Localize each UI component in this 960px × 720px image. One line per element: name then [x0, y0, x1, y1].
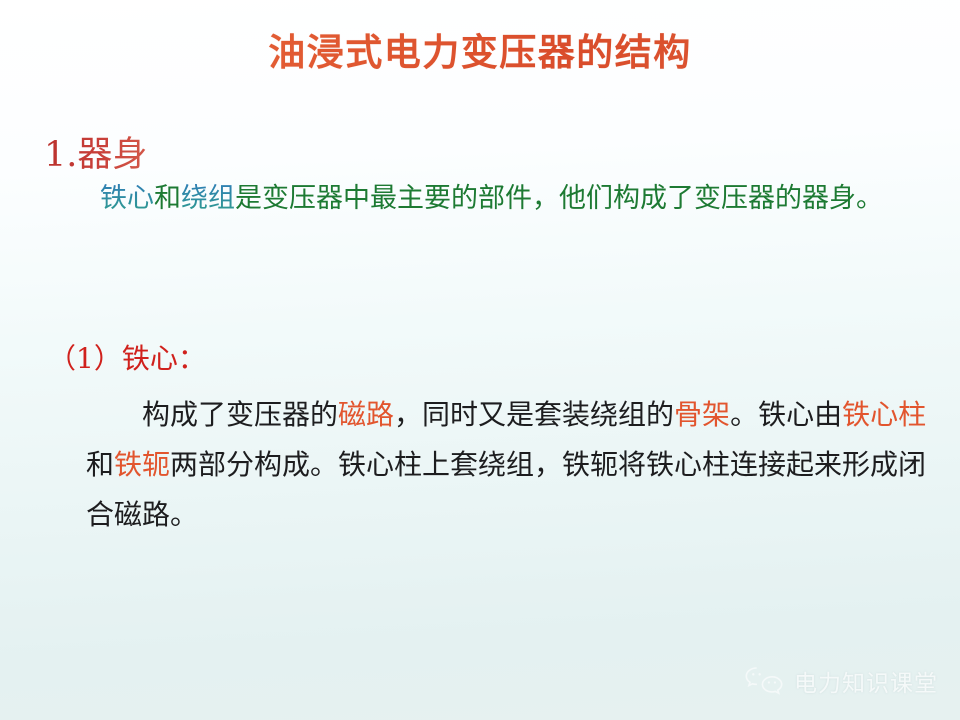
paragraph-core: 构成了变压器的磁路，同时又是套装绕组的骨架。铁心由铁心柱和铁轭两部分构成。铁心柱… — [86, 390, 942, 540]
run-dark-5: 两部分构成。铁心柱上套绕组，铁轭将铁心柱连接起来形成闭合磁路。 — [86, 448, 926, 531]
watermark-label: 电力知识课堂 — [794, 664, 938, 698]
section-heading-label: 器身 — [77, 135, 147, 175]
term-core-limb: 铁心柱 — [842, 398, 926, 431]
section-number: 1. — [44, 135, 77, 175]
paragraph-body-rest: 是变压器中最主要的部件，他们构成了变压器的器身。 — [235, 183, 883, 214]
term-core-yoke: 铁轭 — [114, 448, 170, 481]
subsection-heading: （1）铁心： — [48, 337, 206, 377]
watermark: 电力知识课堂 — [743, 664, 938, 698]
term-skeleton: 骨架 — [674, 398, 730, 431]
run-dark-1: 构成了变压器的 — [142, 398, 338, 431]
section-heading: 1.器身 — [44, 126, 147, 177]
term-magnetic-circuit: 磁路 — [338, 398, 394, 431]
run-dark-2: ，同时又是套装绕组的 — [394, 398, 674, 431]
page-title: 油浸式电力变压器的结构 — [0, 22, 960, 76]
paragraph-body: 铁心和绕组是变压器中最主要的部件，他们构成了变压器的器身。 — [48, 176, 928, 222]
run-dark-3: 。铁心由 — [730, 398, 842, 431]
run-dark-4: 和 — [86, 448, 114, 481]
conjunction-and: 和 — [154, 183, 181, 214]
term-winding: 绕组 — [181, 183, 235, 214]
term-core: 铁心 — [100, 183, 154, 214]
wechat-bubbles-icon — [743, 665, 785, 697]
slide: 油浸式电力变压器的结构 1.器身 铁心和绕组是变压器中最主要的部件，他们构成了变… — [0, 0, 960, 720]
